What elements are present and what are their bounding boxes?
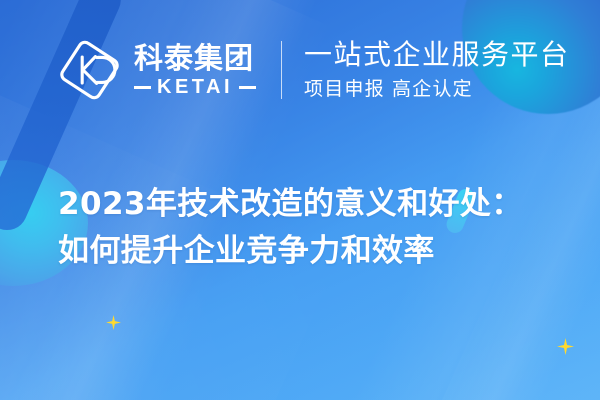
brand-name-cn: 科泰集团 — [134, 43, 256, 74]
brand-name-en: KETAI — [157, 77, 233, 97]
wordmark-right-dash-icon — [239, 86, 256, 89]
ketai-diamond-logo-icon — [58, 38, 122, 102]
wordmark-left-dash-icon — [134, 86, 151, 89]
article-headline: 2023年技术改造的意义和好处：如何提升企业竞争力和效率 — [58, 181, 550, 275]
brand-tagline: 一站式企业服务平台 项目申报 高企认定 — [304, 38, 570, 102]
sparkle-star-icon — [557, 338, 574, 355]
tagline-secondary: 项目申报 高企认定 — [304, 77, 570, 102]
header-vertical-divider — [281, 41, 282, 99]
brand-logo[interactable]: 科泰集团 KETAI — [58, 38, 256, 102]
brand-name-en-row: KETAI — [134, 77, 256, 97]
article-cover-banner: 科泰集团 KETAI 一站式企业服务平台 项目申报 高企认定 2023年技术改造… — [0, 0, 600, 400]
tagline-primary: 一站式企业服务平台 — [304, 38, 570, 71]
banner-header: 科泰集团 KETAI 一站式企业服务平台 项目申报 高企认定 — [0, 0, 600, 140]
sparkle-star-icon — [106, 315, 121, 330]
brand-wordmark: 科泰集团 KETAI — [134, 43, 256, 97]
